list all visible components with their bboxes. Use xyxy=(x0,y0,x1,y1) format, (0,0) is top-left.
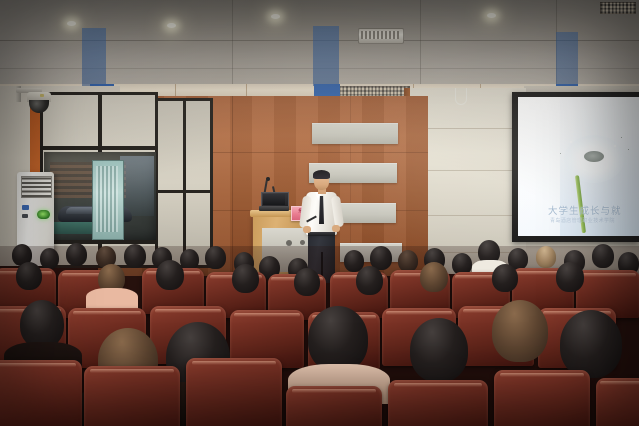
audience-head xyxy=(592,244,614,268)
ac-louver-grille xyxy=(21,176,52,198)
laptop-screen xyxy=(263,194,285,205)
audience-head xyxy=(156,260,184,290)
ceiling-downlight xyxy=(487,13,496,18)
blue-accent-stripe xyxy=(556,32,578,86)
audience-head xyxy=(492,300,548,362)
microphone-icon xyxy=(266,177,270,181)
audience-head xyxy=(356,266,383,295)
auditorium-seat[interactable] xyxy=(388,380,488,426)
ac-button[interactable] xyxy=(22,214,28,218)
audience-head xyxy=(308,306,368,372)
blue-accent-stripe xyxy=(82,28,106,86)
audience-head xyxy=(398,250,418,272)
camera-status-led xyxy=(40,94,44,97)
audience-head xyxy=(556,262,584,292)
diffuser-fins xyxy=(361,31,399,39)
auditorium-seat[interactable] xyxy=(84,366,180,426)
audience-shoulders xyxy=(86,288,138,310)
window-reflection-hedge xyxy=(48,222,98,234)
audience-head xyxy=(20,300,64,348)
speaker-right-hand xyxy=(332,225,340,232)
auditorium-photo: 大学生成长与就 青岛酒店管理职业技术学院 报告人 xyxy=(0,0,639,426)
cabinet-door-panes xyxy=(96,166,118,232)
ceiling-seam xyxy=(232,0,233,86)
auditorium-seat[interactable] xyxy=(494,370,590,426)
ceiling-downlight xyxy=(167,23,176,28)
auditorium-seat[interactable] xyxy=(596,378,639,426)
hanging-cable xyxy=(455,88,467,105)
audience-head xyxy=(536,246,556,268)
audience-head xyxy=(410,318,468,382)
booth-mullion xyxy=(40,240,158,244)
booth-mullion xyxy=(183,98,186,268)
audience-head xyxy=(560,310,622,378)
laptop-base xyxy=(259,206,289,211)
audience-head xyxy=(492,264,518,292)
audience-head xyxy=(40,248,59,269)
ac-display-screen xyxy=(37,210,50,219)
speaker-left-hand xyxy=(303,226,311,233)
auditorium-seat[interactable] xyxy=(286,386,382,426)
audience-head xyxy=(294,268,320,296)
auditorium-seat[interactable] xyxy=(0,360,82,426)
audience-head xyxy=(124,244,146,268)
ceiling-downlight xyxy=(271,14,280,19)
audience-head xyxy=(16,262,42,290)
ac-control-label xyxy=(22,205,29,210)
booth-mullion xyxy=(40,146,158,150)
ceiling-seam xyxy=(420,0,421,86)
audience-head xyxy=(66,243,87,266)
speaker-belt xyxy=(308,232,335,236)
acoustic-panel xyxy=(312,123,398,144)
podium-fixture xyxy=(300,240,305,245)
auditorium-seat[interactable] xyxy=(186,358,282,426)
audience-head xyxy=(205,246,226,269)
screen-glare xyxy=(518,97,639,236)
audience-head xyxy=(232,264,259,293)
audience-head xyxy=(180,249,199,270)
speaker-hair xyxy=(313,170,330,179)
ceiling-downlight xyxy=(67,21,76,26)
blue-accent-stripe xyxy=(313,26,339,86)
audience-head xyxy=(420,262,448,292)
ceiling-vent-grille xyxy=(600,2,636,14)
